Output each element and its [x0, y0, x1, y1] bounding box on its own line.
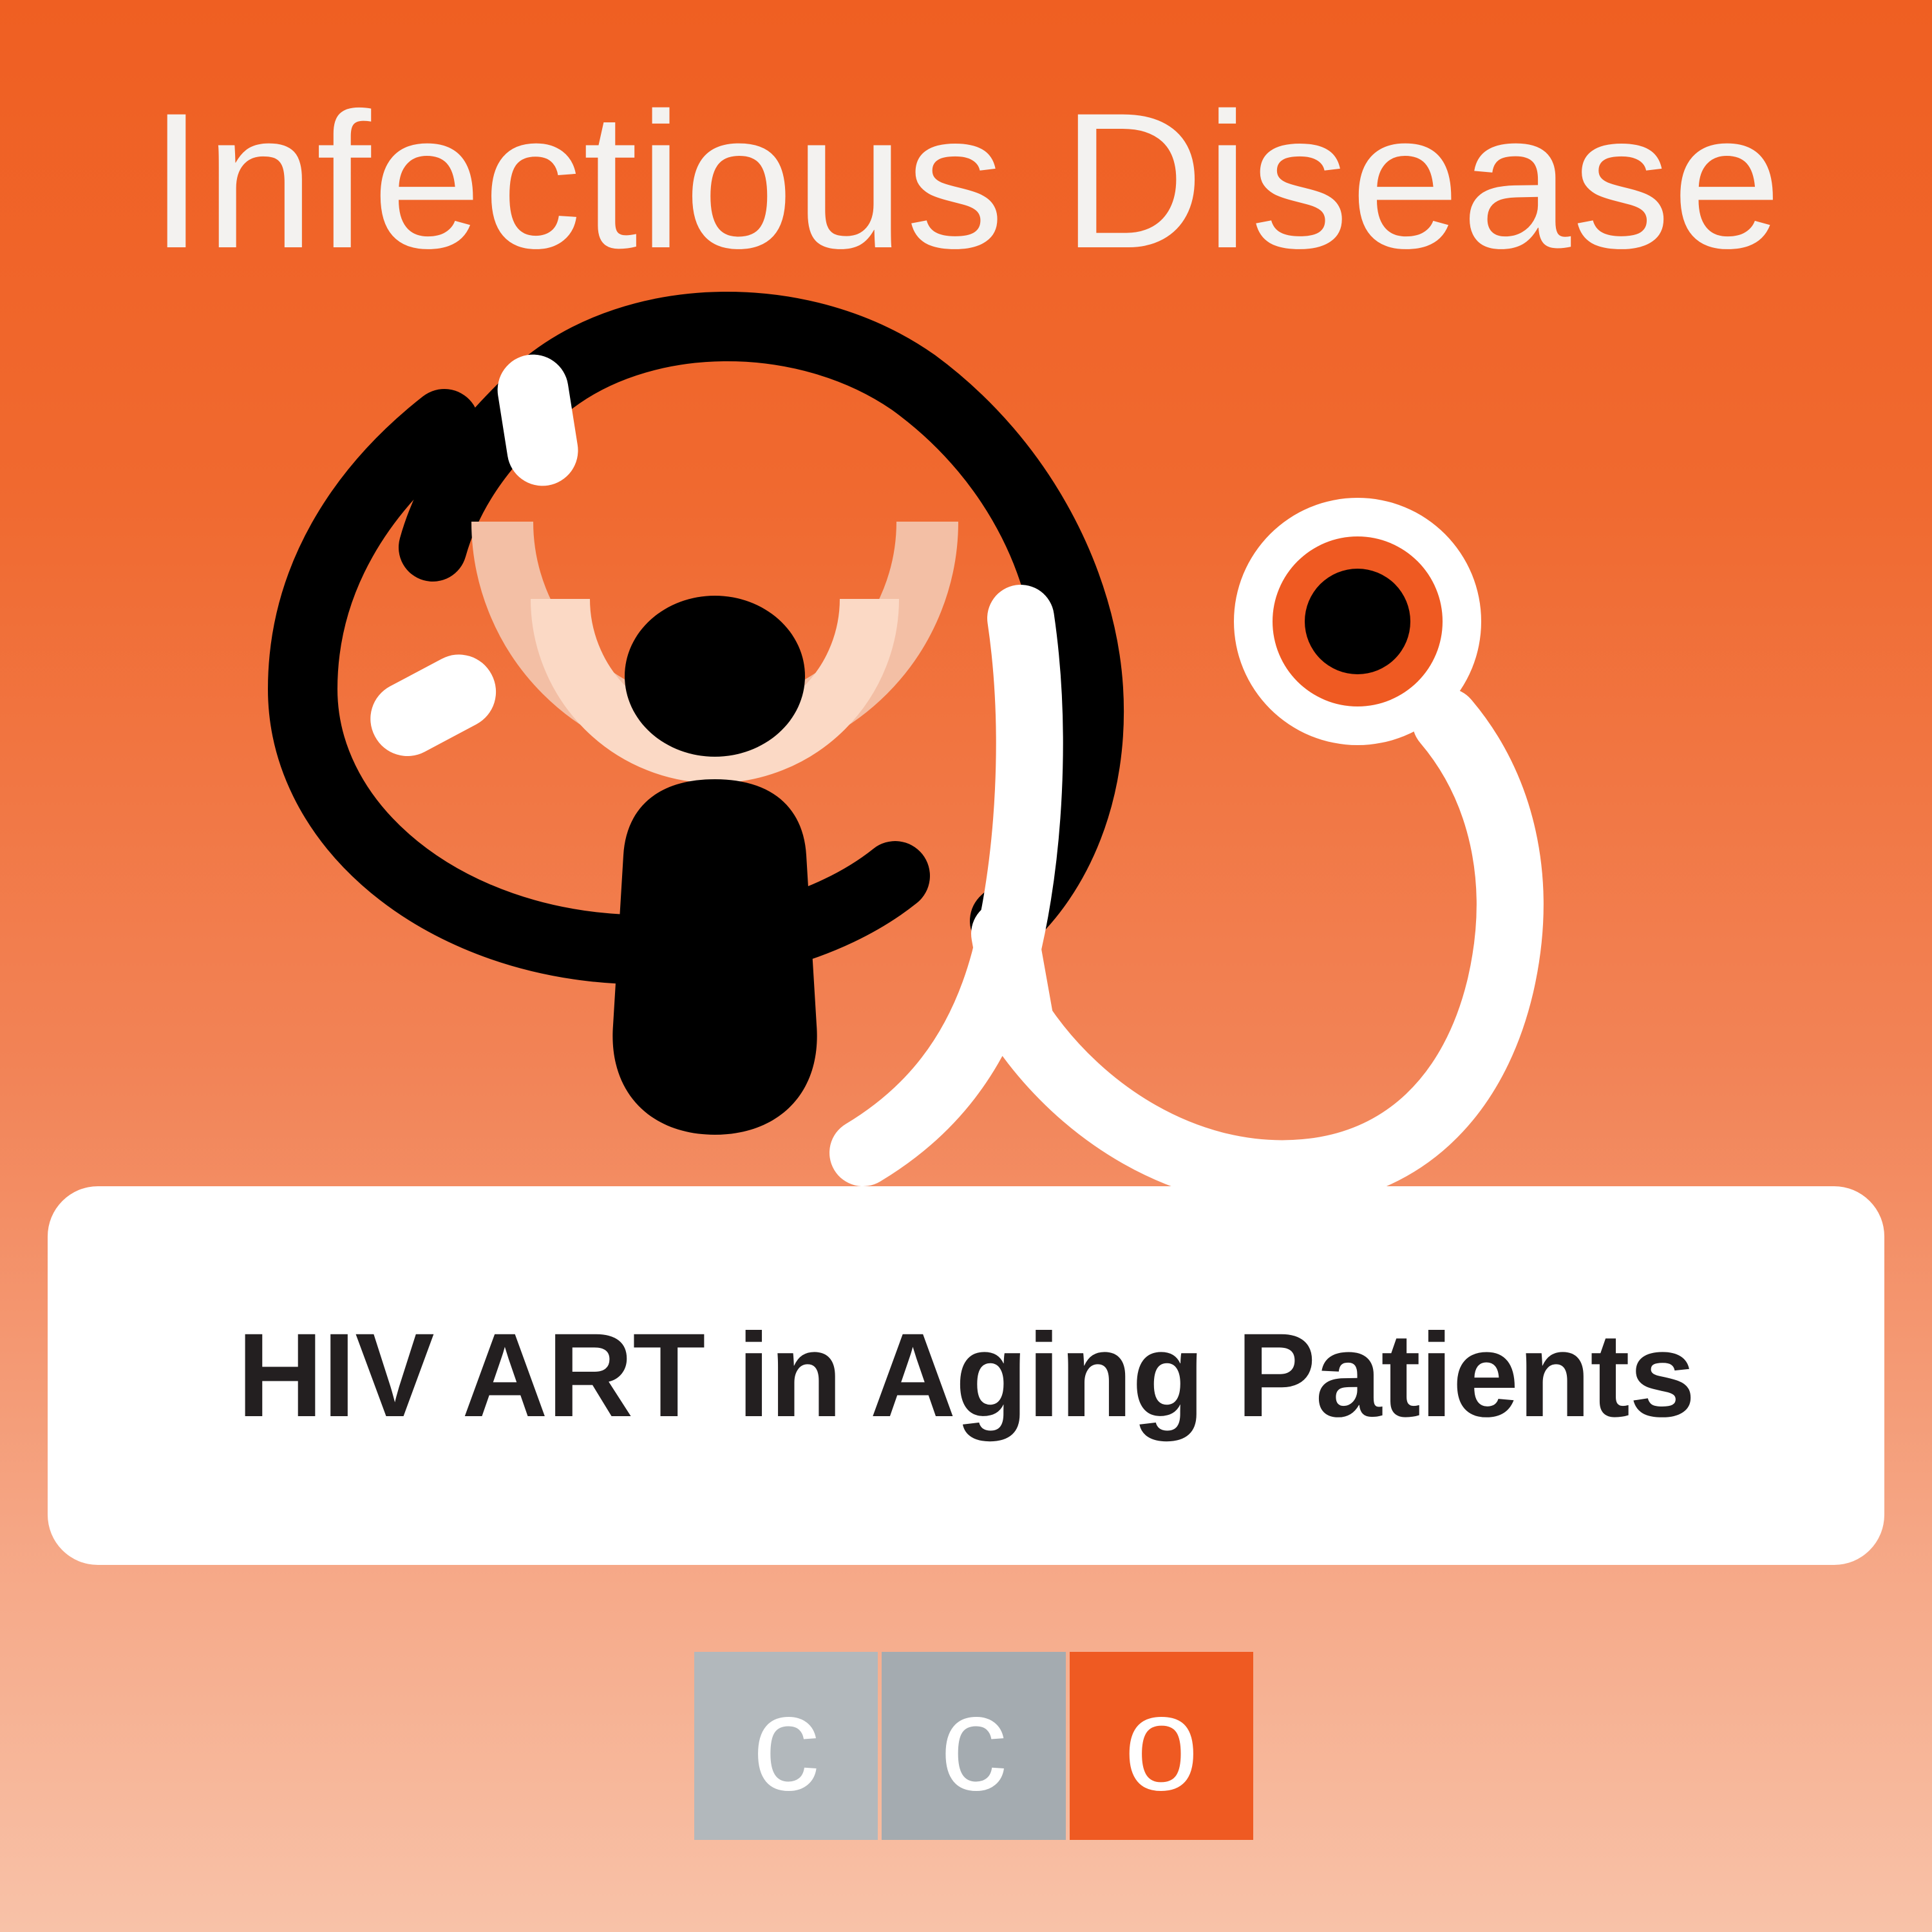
logo-tile-o: o: [1070, 1652, 1253, 1840]
series-title: Infectious Disease: [0, 84, 1932, 277]
episode-title: HIV ART in Aging Patients: [237, 1313, 1695, 1438]
podcast-person-glyph: [612, 596, 817, 1135]
stethoscope-white-tube-junction: [1005, 934, 1021, 1024]
stethoscope-earpiece-lower: [357, 641, 509, 769]
stethoscope-chestpiece: [1234, 498, 1481, 745]
cover-artwork: [0, 277, 1932, 1191]
logo-tile-c1: c: [694, 1652, 878, 1840]
chestpiece-center: [1305, 569, 1410, 674]
podcast-person-head: [625, 596, 805, 757]
logo-tile-c2: c: [882, 1652, 1065, 1840]
podcast-person-body: [612, 779, 817, 1135]
cco-brand-logo: c c o: [694, 1652, 1253, 1840]
podcast-cover-art: Infectious Disease: [0, 0, 1932, 1932]
episode-title-card: HIV ART in Aging Patients: [48, 1186, 1884, 1565]
